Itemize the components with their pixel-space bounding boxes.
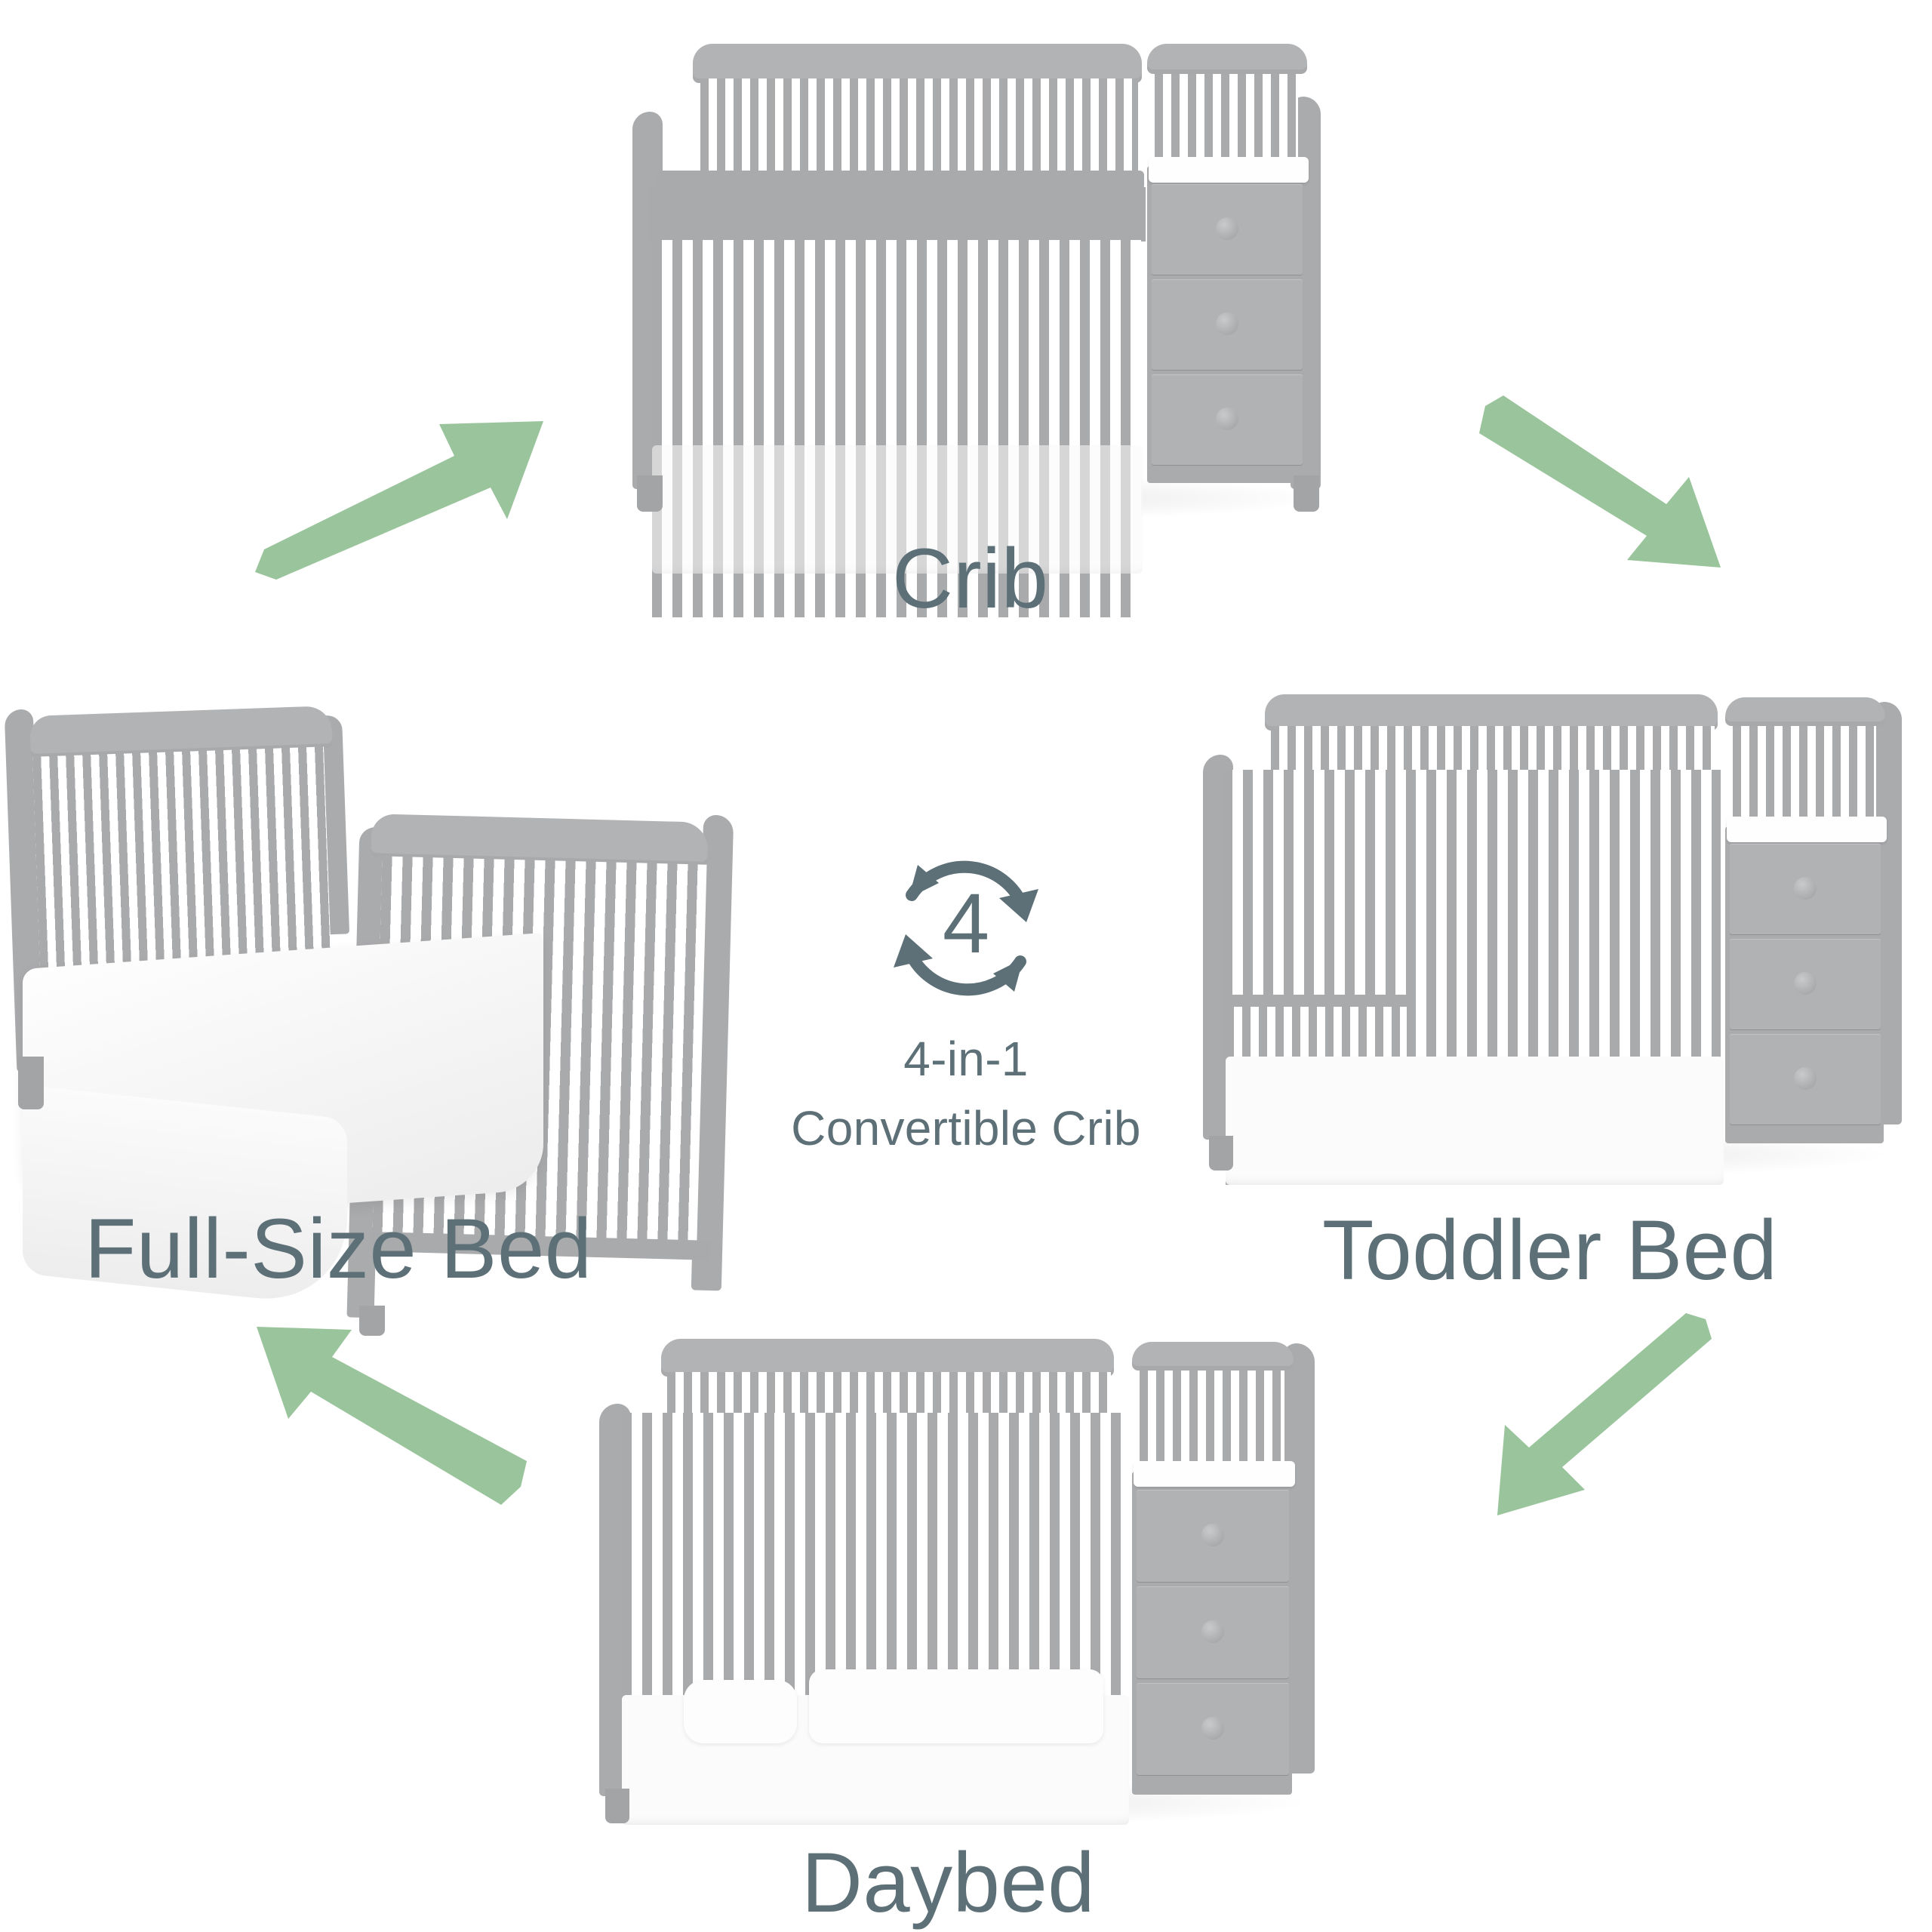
daybed-changer-back-slats <box>1140 1364 1284 1461</box>
center-line1: 4-in-1 <box>785 1029 1147 1088</box>
label-daybed: Daybed <box>801 1834 1095 1931</box>
daybed-changer-top-cap <box>1132 1342 1294 1371</box>
toddler-back-rail-cap <box>1265 694 1718 731</box>
arrow-daybed-to-full <box>241 1313 528 1509</box>
arrow-toddler-to-daybed <box>1457 1313 1713 1524</box>
crib-drawer-2-knob[interactable] <box>1216 312 1238 335</box>
center-line2: Convertible Crib <box>785 1099 1147 1158</box>
daybed-drawer-1-knob[interactable] <box>1201 1524 1224 1546</box>
badge-number: 4 <box>943 876 989 971</box>
crib-drawer-3-knob[interactable] <box>1216 408 1238 430</box>
toddler-drawer-3-knob[interactable] <box>1794 1067 1817 1090</box>
daybed-back-slats-lower <box>622 1413 1123 1707</box>
cycle-arrows-icon: 4 <box>875 838 1057 1019</box>
toddler-changer-top-cap <box>1725 697 1885 726</box>
center-badge: 4 4-in-1 Convertible Crib <box>785 838 1147 1170</box>
toddler-drawer-1-knob[interactable] <box>1794 877 1817 900</box>
label-toddler-bed: Toddler Bed <box>1322 1201 1777 1299</box>
full-bed-head-leg <box>18 1057 44 1109</box>
daybed-leg-left <box>605 1789 629 1823</box>
crib-changer-back-slats <box>1155 66 1298 157</box>
crib-front-band <box>648 187 1146 241</box>
stage-daybed <box>589 1328 1358 1826</box>
toddler-mattress <box>1226 1057 1724 1185</box>
daybed-pillow <box>684 1680 797 1743</box>
arrow-crib-to-toddler <box>1479 392 1736 581</box>
toddler-changing-pad <box>1727 817 1887 842</box>
full-bed-headboard-slats <box>32 746 331 968</box>
crib-back-rail-cap <box>693 44 1142 83</box>
stage-toddler-bed <box>1192 694 1932 1177</box>
daybed-back-rail-cap <box>661 1339 1114 1377</box>
label-full-size-bed: Full-Size Bed <box>85 1200 592 1297</box>
stage-crib <box>626 23 1351 521</box>
arrow-full-to-crib <box>241 377 558 581</box>
stage-full-size-bed <box>0 679 777 1177</box>
toddler-changer-back-slats <box>1733 720 1876 817</box>
crib-leg-right <box>1294 475 1319 512</box>
crib-changer-top-cap <box>1147 44 1307 74</box>
daybed-drawer-3-knob[interactable] <box>1201 1717 1224 1740</box>
daybed-changing-pad <box>1134 1461 1295 1487</box>
daybed-blanket <box>809 1669 1103 1743</box>
label-crib: Crib <box>892 530 1048 627</box>
daybed-drawer-2-knob[interactable] <box>1201 1620 1224 1643</box>
toddler-drawer-2-knob[interactable] <box>1794 972 1817 995</box>
infographic-canvas: 4 4-in-1 Convertible Crib <box>0 0 1932 1932</box>
toddler-leg-left <box>1209 1136 1233 1171</box>
crib-changing-pad <box>1149 157 1309 183</box>
full-bed-foot-leg <box>359 1306 385 1336</box>
crib-leg-left <box>637 475 663 512</box>
crib-drawer-1-knob[interactable] <box>1216 217 1238 240</box>
crib-back-slats <box>700 78 1138 177</box>
